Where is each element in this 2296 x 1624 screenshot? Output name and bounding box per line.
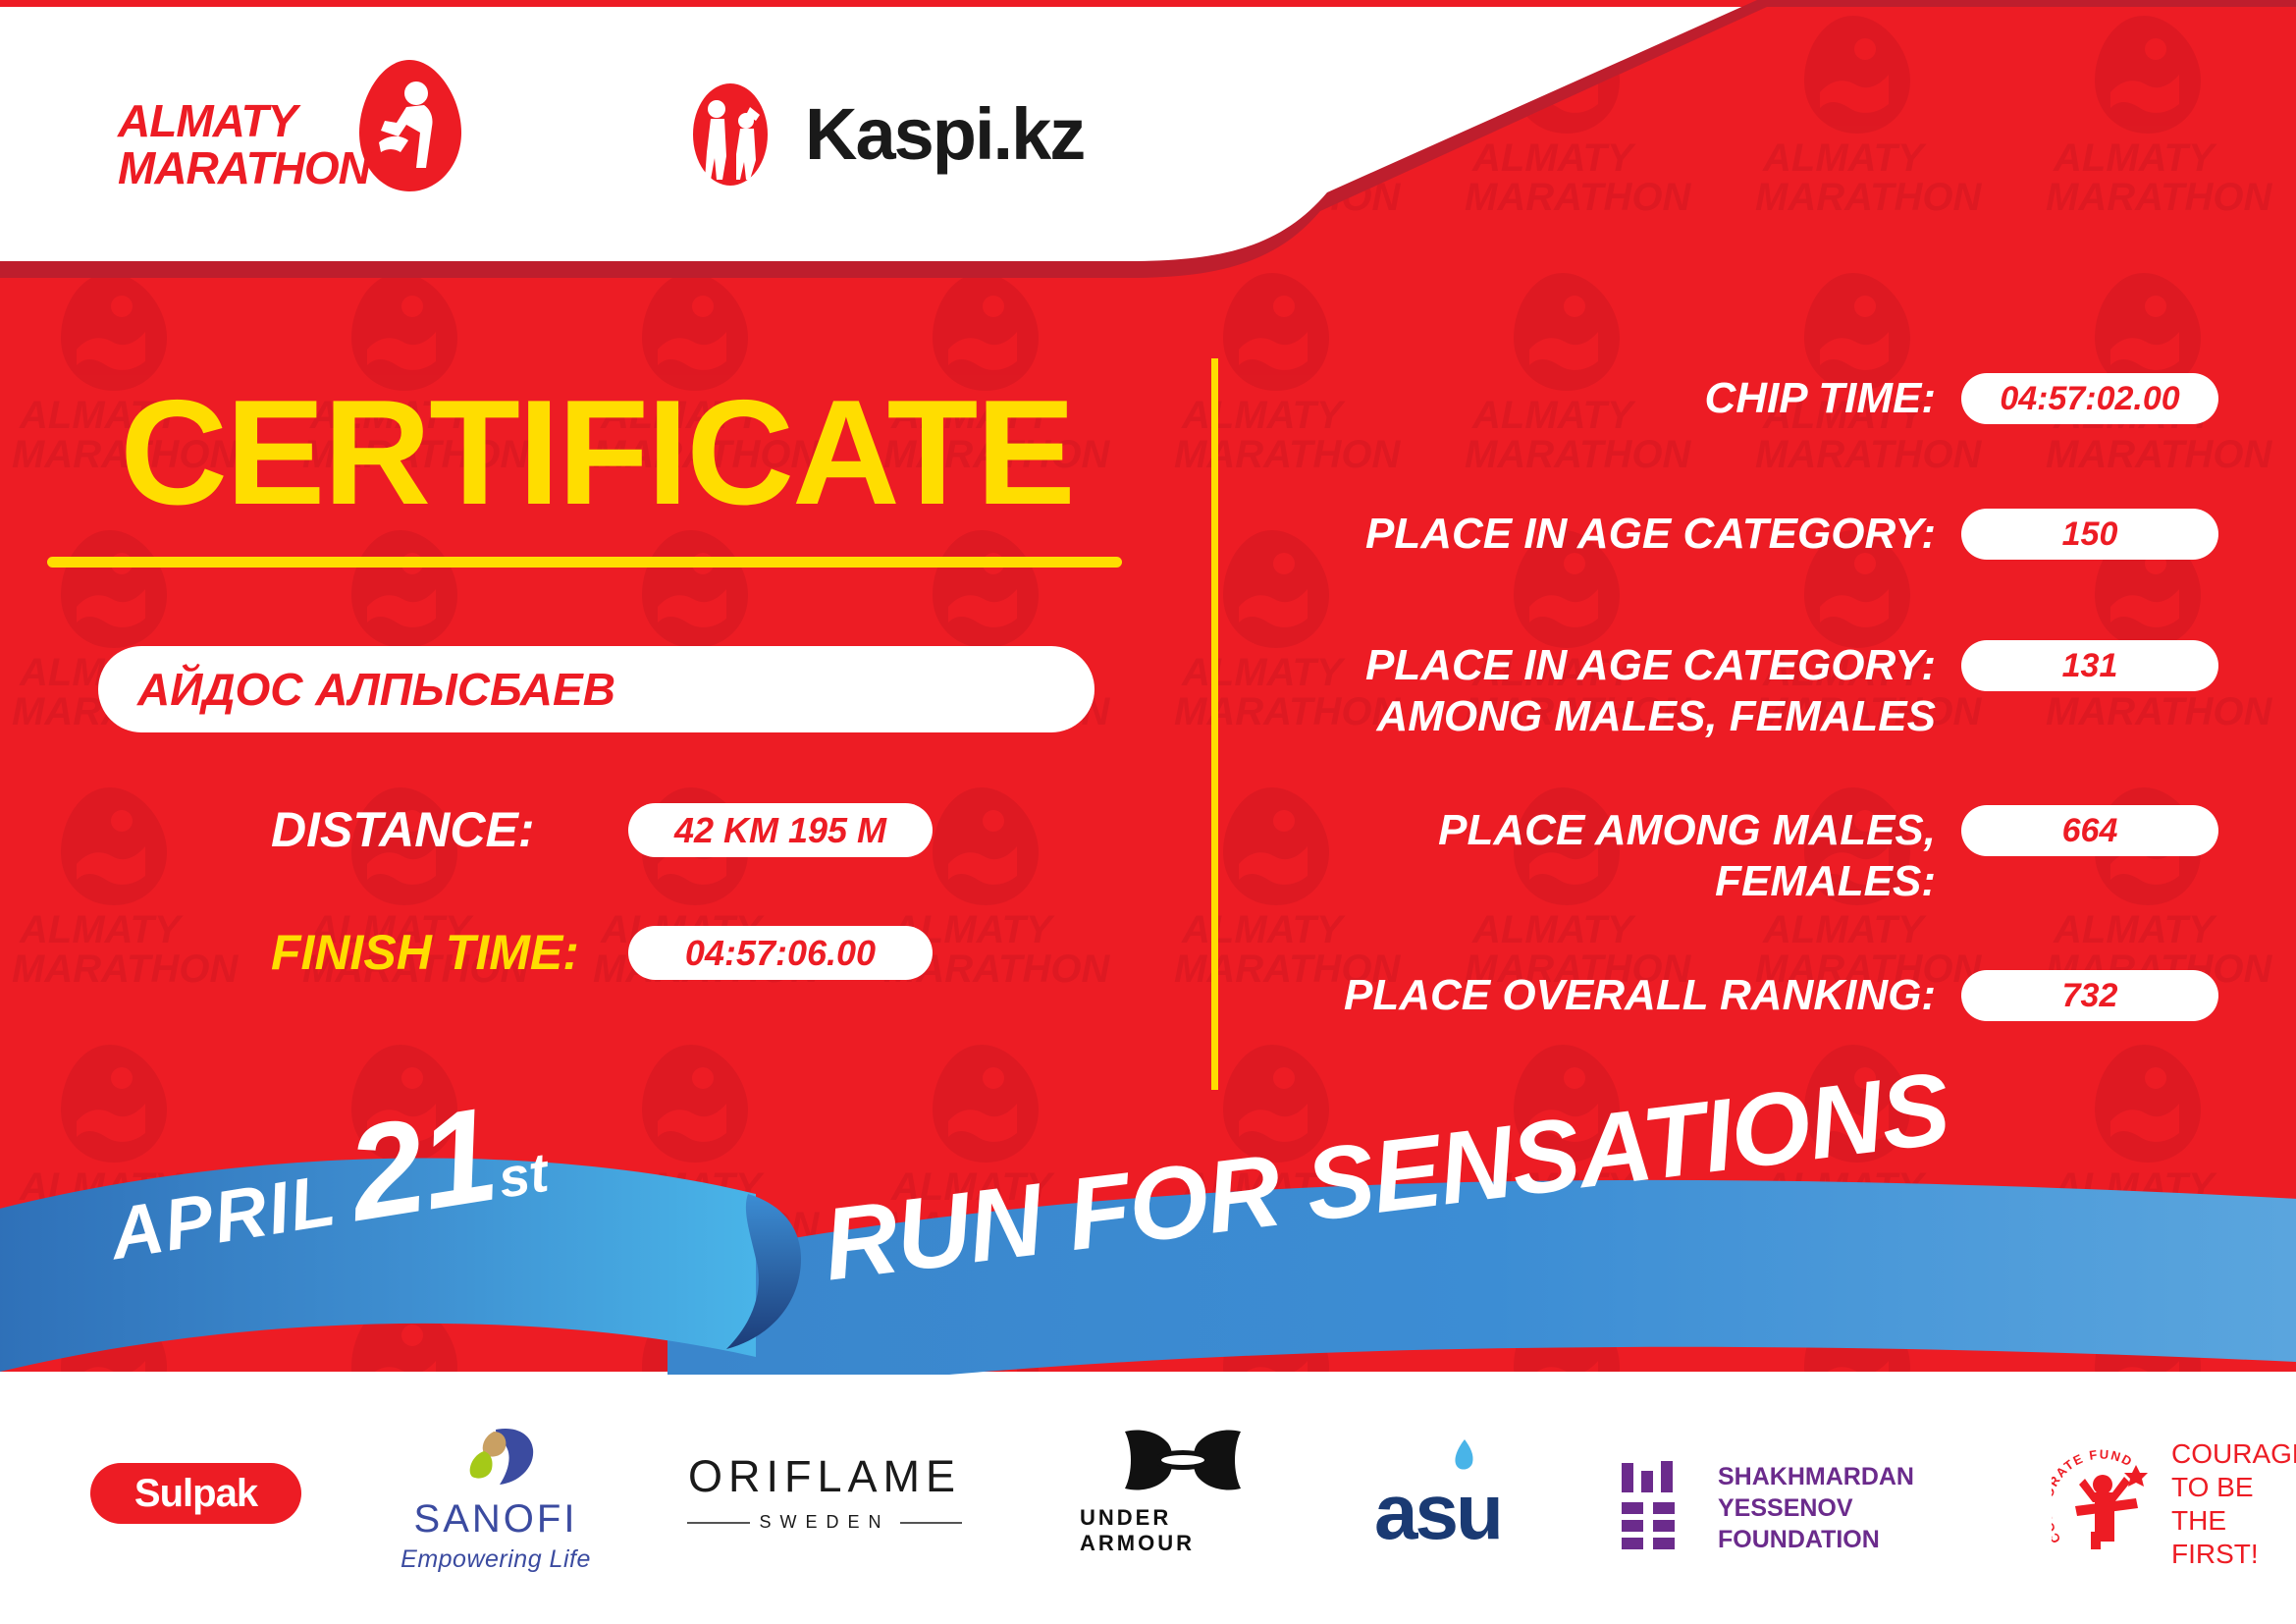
distance-value-field: 42 KM 195 M — [628, 803, 933, 857]
sponsor-slogan-line-1: COURAGE — [2171, 1437, 2296, 1471]
result-value: 732 — [2062, 977, 2118, 1015]
sponsor-name: ORIFLAME — [688, 1451, 961, 1502]
result-label-line-1: PLACE IN AGE CATEGORY: — [1256, 640, 1936, 691]
result-value-field: 04:57:02.00 — [1961, 373, 2218, 424]
result-label-line-2: FEMALES: — [1256, 856, 1936, 907]
kaspi-wordmark: Kaspi.kz — [805, 98, 1084, 171]
sponsor-slogan-block: COURAGE TO BE THE FIRST! — [2171, 1437, 2296, 1571]
result-value: 04:57:02.00 — [2000, 380, 2179, 418]
almaty-marathon-logo: ALMATY MARATHON — [118, 58, 442, 215]
result-value: 131 — [2062, 647, 2118, 685]
sponsor-name-block: SHAKHMARDAN YESSENOV FOUNDATION — [1718, 1461, 2032, 1555]
result-label-line-1: PLACE AMONG MALES, — [1256, 805, 1936, 856]
header: ALMATY MARATHON Kaspi.kz — [0, 7, 1374, 272]
distance-label: DISTANCE: — [271, 805, 565, 854]
sponsor-slogan-line-2: TO BE — [2171, 1471, 2296, 1504]
result-label-line-2: AMONG MALES, FEMALES — [1256, 691, 1936, 742]
sponsor-name: Sulpak — [134, 1472, 257, 1516]
almaty-marathon-wordmark: ALMATY MARATHON — [118, 97, 373, 191]
corporate-fund-runner-icon: CORPORATE FUND — [2052, 1449, 2162, 1560]
kaspi-logo: Kaspi.kz — [677, 81, 1084, 189]
ribbon-day-suffix: st — [494, 1140, 552, 1211]
result-value-field: 131 — [1961, 640, 2218, 691]
logo-line-marathon: MARATHON — [118, 144, 373, 191]
yessenov-bars-icon — [1620, 1461, 1696, 1556]
result-row-place-overall: PLACE OVERALL RANKING: 732 — [1256, 970, 2218, 1021]
column-divider — [1211, 358, 1218, 1090]
sponsor-tagline: SWEDEN — [760, 1512, 890, 1533]
result-value: 150 — [2062, 515, 2118, 554]
sponsor-name: SANOFI — [414, 1497, 578, 1542]
participant-name: АЙДОС АЛПЫСБАЕВ — [137, 663, 615, 716]
result-value: 664 — [2062, 812, 2118, 850]
certificate-canvas: ALMATY MARATHON ALMATY — [0, 0, 2296, 1624]
sponsor-logo-oriflame: ORIFLAME SWEDEN — [687, 1451, 962, 1589]
sponsor-name: asu — [1374, 1473, 1501, 1551]
result-row-place-age-category-gender: PLACE IN AGE CATEGORY: AMONG MALES, FEMA… — [1256, 640, 2218, 742]
sponsor-name-line-1: SHAKHMARDAN YESSENOV — [1718, 1461, 2032, 1524]
divider-line-left — [687, 1522, 750, 1524]
sponsor-slogan-line-3: THE FIRST! — [2171, 1504, 2296, 1571]
title-underline — [47, 557, 1122, 568]
result-label: PLACE OVERALL RANKING: — [1256, 970, 1961, 1021]
result-label: PLACE IN AGE CATEGORY: AMONG MALES, FEMA… — [1256, 640, 1961, 742]
result-value-field: 732 — [1961, 970, 2218, 1021]
sponsor-tagline: Empowering Life — [400, 1545, 591, 1574]
participant-name-field: АЙДОС АЛПЫСБАЕВ — [98, 646, 1095, 732]
sponsor-logo-yessenov-foundation: SHAKHMARDAN YESSENOV FOUNDATION — [1620, 1439, 2032, 1577]
result-value-field: 664 — [1961, 805, 2218, 856]
sanofi-mark-icon — [451, 1426, 541, 1495]
result-row-place-age-category: PLACE IN AGE CATEGORY: 150 — [1256, 509, 2218, 560]
kaspi-figure-icon — [677, 81, 783, 188]
sponsor-logo-under-armour: UNDER ARMOUR — [1080, 1426, 1286, 1563]
sponsor-logo-asu: asu — [1374, 1443, 1561, 1581]
sponsor-logo-sulpak: Sulpak — [90, 1463, 301, 1524]
result-label: PLACE AMONG MALES, FEMALES: — [1256, 805, 1961, 907]
under-armour-mark-icon — [1119, 1426, 1247, 1499]
result-value-field: 150 — [1961, 509, 2218, 560]
result-label: CHIP TIME: — [1256, 373, 1961, 424]
result-label: PLACE IN AGE CATEGORY: — [1256, 509, 1961, 560]
sponsor-logo-sanofi: SANOFI Empowering Life — [383, 1426, 609, 1563]
finish-time-label: FINISH TIME: — [271, 928, 595, 977]
divider-line-right — [900, 1522, 963, 1524]
finish-time-value-field: 04:57:06.00 — [628, 926, 933, 980]
logo-line-almaty: ALMATY — [118, 97, 373, 144]
result-row-chip-time: CHIP TIME: 04:57:02.00 — [1256, 373, 2218, 424]
finish-time-value: 04:57:06.00 — [685, 933, 876, 974]
sponsor-logo-corporate-fund: CORPORATE FUND COURAGE TO BE THE FIRST! — [2052, 1435, 2287, 1573]
page-title: CERTIFICATE — [47, 378, 1147, 527]
sponsor-name: UNDER ARMOUR — [1080, 1505, 1286, 1556]
result-row-place-among-gender: PLACE AMONG MALES, FEMALES: 664 — [1256, 805, 2218, 907]
sponsor-name-line-2: FOUNDATION — [1718, 1524, 2032, 1555]
sponsor-tagline-row: SWEDEN — [687, 1512, 962, 1533]
distance-value: 42 KM 195 M — [674, 810, 886, 851]
ribbon-day: 21 — [341, 1095, 502, 1234]
asu-droplet-icon — [1451, 1437, 1476, 1478]
